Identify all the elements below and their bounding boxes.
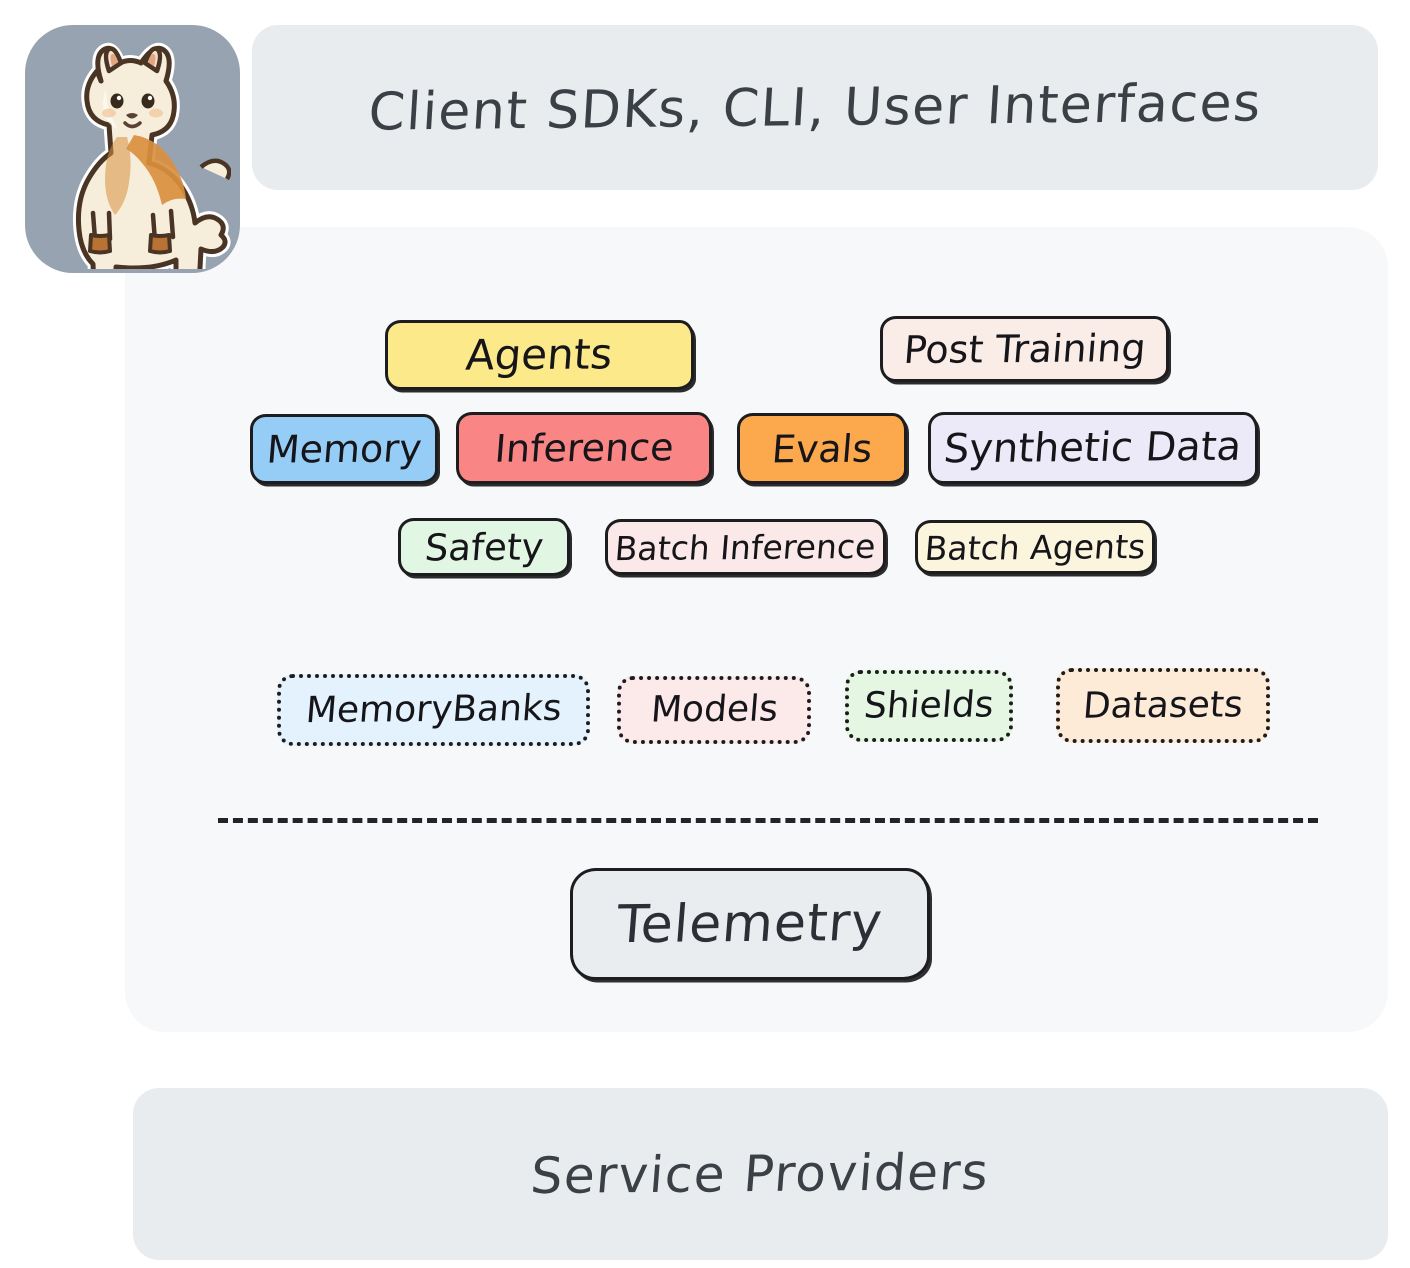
api-box-label: Memory bbox=[265, 429, 423, 468]
resource-box[interactable]: Models bbox=[617, 676, 811, 744]
api-box[interactable]: Batch Agents bbox=[915, 520, 1155, 574]
api-box-label: Safety bbox=[423, 528, 544, 566]
api-box-label: Evals bbox=[770, 429, 873, 468]
api-box[interactable]: Memory bbox=[250, 414, 438, 484]
api-box-label: Agents bbox=[465, 333, 615, 376]
resource-box[interactable]: Shields bbox=[845, 670, 1013, 742]
resource-box-label: Models bbox=[649, 691, 779, 728]
resource-box[interactable]: MemoryBanks bbox=[277, 674, 590, 746]
header-title: Client SDKs, CLI, User Interfaces bbox=[367, 73, 1264, 142]
api-box-label: Post Training bbox=[902, 329, 1147, 369]
section-divider bbox=[218, 818, 1318, 823]
api-box-label: Batch Inference bbox=[614, 529, 877, 564]
client-interfaces-banner: Client SDKs, CLI, User Interfaces bbox=[252, 25, 1378, 190]
api-box[interactable]: Safety bbox=[398, 518, 570, 576]
service-providers-banner: Service Providers bbox=[133, 1088, 1388, 1260]
api-box[interactable]: Evals bbox=[737, 413, 907, 484]
footer-title: Service Providers bbox=[529, 1143, 992, 1205]
api-box[interactable]: Inference bbox=[456, 412, 712, 484]
telemetry-label: Telemetry bbox=[615, 893, 885, 955]
telemetry-box[interactable]: Telemetry bbox=[570, 868, 930, 980]
api-box-label: Synthetic Data bbox=[943, 427, 1243, 470]
llama-logo-tile bbox=[25, 25, 240, 273]
resource-box-label: Shields bbox=[863, 687, 995, 724]
api-box[interactable]: Agents bbox=[385, 320, 694, 390]
api-box-label: Inference bbox=[493, 428, 675, 468]
api-box[interactable]: Batch Inference bbox=[605, 519, 886, 575]
api-box[interactable]: Post Training bbox=[880, 316, 1169, 382]
api-box[interactable]: Synthetic Data bbox=[928, 412, 1258, 484]
diagram-canvas: Client SDKs, CLI, User Interfaces bbox=[0, 0, 1410, 1268]
resource-box-label: Datasets bbox=[1082, 687, 1245, 724]
llama-icon bbox=[31, 39, 231, 269]
resource-box-label: MemoryBanks bbox=[304, 691, 563, 729]
resource-box[interactable]: Datasets bbox=[1056, 668, 1270, 743]
api-box-label: Batch Agents bbox=[923, 530, 1146, 565]
